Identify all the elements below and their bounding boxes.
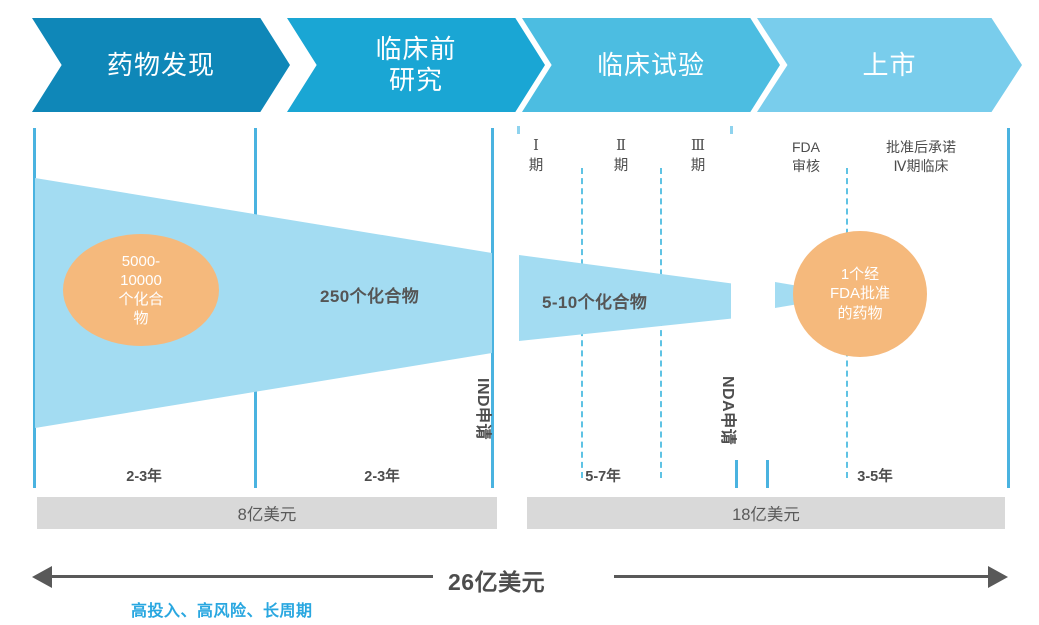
- cost-bar-right: 18亿美元: [527, 497, 1005, 529]
- label-preclinical-compounds: 250个化合物: [320, 282, 419, 307]
- label-nda-application: NDA申请: [718, 376, 742, 445]
- stage-banner-preclinical[interactable]: 临床前 研究: [287, 18, 545, 112]
- label-ind-application: IND申请: [473, 378, 497, 440]
- stage-banner-label-line1: 临床前: [375, 34, 456, 65]
- ellipse-approved-drug: 1个经 FDA批准 的药物: [793, 231, 927, 357]
- label-phase-3: Ⅲ 期: [673, 137, 723, 176]
- arrow-line-right: [614, 575, 988, 578]
- cost-bar-left: 8亿美元: [37, 497, 497, 529]
- label-fda-review-line2: 审核: [774, 157, 838, 176]
- ellipse-label: 1个经 FDA批准 的药物: [830, 265, 890, 323]
- label-total-cost: 26亿美元: [448, 563, 545, 597]
- ellipse-label-line1: 5000-: [118, 252, 163, 271]
- label-phase-2-numeral: Ⅱ: [596, 137, 646, 157]
- ellipse-label-line2: 10000: [118, 271, 163, 290]
- label-phase-1-numeral: Ⅰ: [511, 137, 561, 157]
- arrow-line-left: [51, 575, 433, 578]
- label-phase-1-unit: 期: [511, 157, 561, 177]
- stage-banner-label: 临床试验: [597, 50, 705, 81]
- ellipse-label-line4: 物: [118, 309, 163, 328]
- label-post-approval-line2: Ⅳ期临床: [866, 157, 976, 176]
- label-fda-review-line1: FDA: [774, 138, 838, 157]
- label-clinical-compounds: 5-10个化合物: [542, 288, 647, 313]
- stage-banner-clinical[interactable]: 临床试验: [522, 18, 780, 112]
- label-duration-clinical: 5-7年: [573, 465, 633, 486]
- stage-banner-label: 上市: [862, 50, 916, 81]
- cost-bar-right-label: 18亿美元: [732, 501, 800, 525]
- label-phase-1: Ⅰ 期: [511, 137, 561, 176]
- stage-banner-label-line2: 研究: [375, 65, 456, 96]
- stage-banner-discovery[interactable]: 药物发现: [32, 18, 290, 112]
- ellipse-label-line3: 的药物: [830, 304, 890, 323]
- label-fda-review: FDA 审核: [774, 138, 838, 176]
- label-tagline: 高投入、高风险、长周期: [131, 597, 313, 621]
- label-duration-discovery: 2-3年: [114, 465, 174, 486]
- ellipse-label-line3: 个化合: [118, 290, 163, 309]
- cost-bar-left-label: 8亿美元: [238, 501, 297, 525]
- label-phase-3-numeral: Ⅲ: [673, 137, 723, 157]
- stage-banner-label: 临床前 研究: [375, 34, 456, 95]
- ellipse-discovery-compounds: 5000- 10000 个化合 物: [63, 234, 219, 346]
- diagram-canvas: 药物发现 临床前 研究 临床试验 上市 5000- 10000 个化合 物: [0, 0, 1039, 625]
- divider-line-nda-left: [735, 460, 738, 488]
- divider-line-nda-right: [766, 460, 769, 488]
- stage-banner-market[interactable]: 上市: [757, 18, 1022, 112]
- ellipse-label-line1: 1个经: [830, 265, 890, 284]
- label-phase-3-unit: 期: [673, 157, 723, 177]
- arrow-head-left-icon: [32, 566, 52, 588]
- tick-clinical-start: [517, 126, 520, 134]
- ellipse-label-line2: FDA批准: [830, 284, 890, 303]
- label-phase-2-unit: 期: [596, 157, 646, 177]
- tick-clinical-end: [730, 126, 733, 134]
- label-phase-2: Ⅱ 期: [596, 137, 646, 176]
- stage-banner-label: 药物发现: [107, 50, 215, 81]
- ellipse-label: 5000- 10000 个化合 物: [118, 252, 163, 329]
- arrow-head-right-icon: [988, 566, 1008, 588]
- label-duration-preclinical: 2-3年: [352, 465, 412, 486]
- label-post-approval: 批准后承诺 Ⅳ期临床: [866, 138, 976, 176]
- label-duration-market: 3-5年: [845, 465, 905, 486]
- divider-line-right-edge: [1007, 128, 1010, 488]
- label-post-approval-line1: 批准后承诺: [866, 138, 976, 157]
